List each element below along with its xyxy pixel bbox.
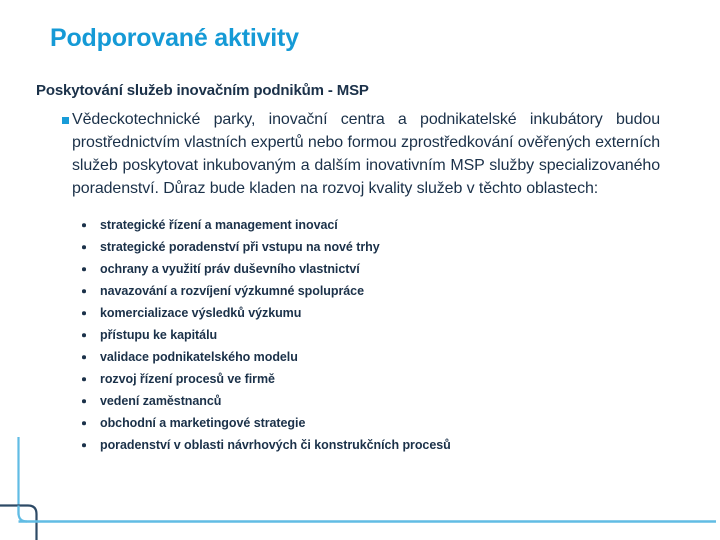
dot-bullet-icon (82, 289, 86, 293)
primary-bullet: Vědeckotechnické parky, inovační centra … (36, 108, 660, 200)
list-item: rozvoj řízení procesů ve firmě (100, 368, 686, 390)
list-item: vedení zaměstnanců (100, 390, 686, 412)
dot-bullet-icon (82, 377, 86, 381)
dot-bullet-icon (82, 355, 86, 359)
list-item: přístupu ke kapitálu (100, 324, 686, 346)
list-item: poradenství v oblasti návrhových či kons… (100, 434, 686, 456)
list-item-label: rozvoj řízení procesů ve firmě (100, 372, 275, 386)
page-title: Podporované aktivity (50, 24, 299, 53)
list-item: validace podnikatelského modelu (100, 346, 686, 368)
sub-bullet-list: strategické řízení a management inovací … (36, 214, 686, 456)
list-item: strategické poradenství při vstupu na no… (100, 236, 686, 258)
list-item-label: ochrany a využití práv duševního vlastni… (100, 262, 360, 276)
dot-bullet-icon (82, 333, 86, 337)
list-item-label: navazování a rozvíjení výzkumné spoluprá… (100, 284, 364, 298)
list-item-label: strategické řízení a management inovací (100, 218, 338, 232)
primary-bullet-text: Vědeckotechnické parky, inovační centra … (72, 108, 660, 200)
list-item-label: poradenství v oblasti návrhových či kons… (100, 438, 451, 452)
dot-bullet-icon (82, 223, 86, 227)
list-item-label: komercializace výsledků výzkumu (100, 306, 301, 320)
list-item-label: strategické poradenství při vstupu na no… (100, 240, 380, 254)
list-item: navazování a rozvíjení výzkumné spoluprá… (100, 280, 686, 302)
dot-bullet-icon (82, 443, 86, 447)
list-item-label: přístupu ke kapitálu (100, 328, 217, 342)
square-bullet-icon (62, 117, 69, 124)
list-item-label: obchodní a marketingové strategie (100, 416, 305, 430)
dot-bullet-icon (82, 421, 86, 425)
list-item-label: validace podnikatelského modelu (100, 350, 298, 364)
list-item: ochrany a využití práv duševního vlastni… (100, 258, 686, 280)
inner-corner-rule-light (19, 506, 28, 522)
dot-bullet-icon (82, 267, 86, 271)
dot-bullet-icon (82, 399, 86, 403)
list-item: obchodní a marketingové strategie (100, 412, 686, 434)
list-item-label: vedení zaměstnanců (100, 394, 221, 408)
section-subheading: Poskytování služeb inovačním podnikům - … (36, 82, 686, 99)
dot-bullet-icon (82, 245, 86, 249)
list-item: strategické řízení a management inovací (100, 214, 686, 236)
rounded-corner-rule-navy (0, 506, 37, 540)
slide-body: Poskytování služeb inovačním podnikům - … (36, 82, 686, 456)
slide-canvas: Podporované aktivity Poskytování služeb … (0, 0, 720, 540)
list-item: komercializace výsledků výzkumu (100, 302, 686, 324)
dot-bullet-icon (82, 311, 86, 315)
